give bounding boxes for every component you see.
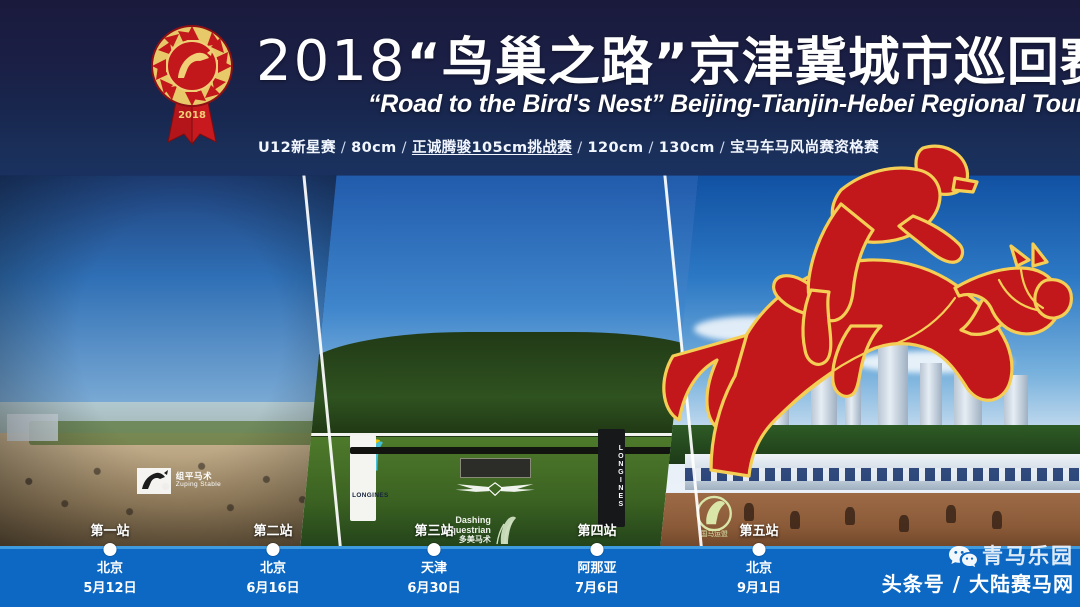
title-year: 2018 [256, 29, 407, 94]
timeline-stop-4: 第四站 [577, 520, 616, 539]
rosette-year: 2018 [178, 110, 206, 121]
class-item-0: U12新星赛 [258, 140, 336, 156]
timeline-city-4: 阿那亚 [577, 557, 616, 576]
title-main-cn: “鸟巢之路”京津冀城市巡回赛 [407, 33, 1080, 93]
class-sep: / [336, 140, 351, 156]
jumping-horse-rider-graphic [655, 120, 1080, 550]
academy-plaque [460, 458, 531, 478]
timeline-date-3: 6月30日 [407, 577, 460, 596]
timeline-dot-1 [104, 543, 117, 556]
timeline-dot-5 [753, 543, 766, 556]
timeline-dot-4 [591, 543, 604, 556]
jump-rail [350, 447, 694, 454]
class-sep: / [397, 140, 412, 156]
timeline-city-5: 北京 [746, 557, 772, 576]
timeline-stop-3: 第三站 [414, 520, 453, 539]
horse-mark-icon [137, 468, 171, 494]
watermark-account: 头条号 / 大陆赛马网 [882, 574, 1074, 594]
poster-root: 组平马术 Zuping Stable LONGINES [0, 0, 1080, 607]
watermark: 青马乐园 头条号 / 大陆赛马网 [882, 544, 1074, 594]
wechat-icon [948, 544, 978, 568]
timeline-dot-2 [267, 543, 280, 556]
timeline-city-1: 北京 [97, 557, 123, 576]
class-item-2: 正诚腾骏105cm挑战赛 [412, 140, 572, 156]
class-item-3: 120cm [588, 140, 644, 156]
zuping-stable-logo: 组平马术 Zuping Stable [137, 468, 221, 494]
timeline-city-2: 北京 [260, 557, 286, 576]
class-sep: / [572, 140, 587, 156]
timeline-stop-5: 第五站 [739, 520, 778, 539]
watermark-brand: 青马乐园 [982, 546, 1074, 567]
timeline-dot-3 [428, 543, 441, 556]
zuping-stable-en: Zuping Stable [176, 482, 221, 489]
timeline-city-3: 天津 [421, 557, 447, 576]
wings-emblem-icon [451, 480, 539, 500]
rosette-badge-icon: 2018 [146, 22, 238, 146]
longines-wordmark-right: LONGINES [600, 445, 624, 509]
page-subtitle-en: “Road to the Bird's Nest” Beijing-Tianji… [368, 90, 1080, 118]
timeline-stop-1: 第一站 [90, 520, 129, 539]
page-title: 2018“鸟巢之路”京津冀城市巡回赛 [256, 34, 1080, 91]
timeline-date-2: 6月16日 [246, 577, 299, 596]
timeline-date-1: 5月12日 [83, 577, 136, 596]
timeline-stop-2: 第二站 [253, 520, 292, 539]
longines-wordmark-left: LONGINES [352, 492, 374, 499]
watermark-top-row: 青马乐园 [882, 544, 1074, 568]
timeline-date-5: 9月1日 [737, 577, 781, 596]
timeline-date-4: 7月6日 [575, 577, 619, 596]
class-item-1: 80cm [351, 140, 396, 156]
